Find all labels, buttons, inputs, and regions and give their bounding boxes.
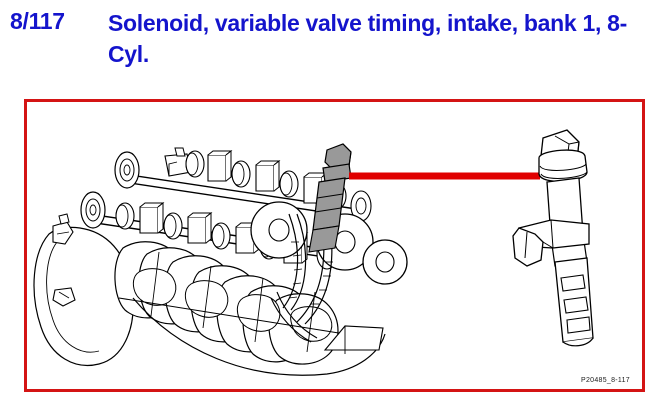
engine-illustration: [27, 102, 642, 389]
solenoid-detail: [513, 130, 593, 346]
page-title: Solenoid, variable valve timing, intake,…: [108, 8, 648, 70]
camshaft-sprocket: [251, 202, 307, 258]
idler-sprocket: [363, 240, 407, 284]
solenoid-collar: [539, 150, 587, 181]
page-title-block: 8/117 Solenoid, variable valve timing, i…: [0, 0, 667, 90]
figure-number: 8/117: [10, 8, 65, 35]
illustration-frame: P20485_8-117: [24, 99, 645, 392]
crankshaft: [115, 242, 345, 364]
figure-caption: P20485_8-117: [581, 377, 630, 384]
